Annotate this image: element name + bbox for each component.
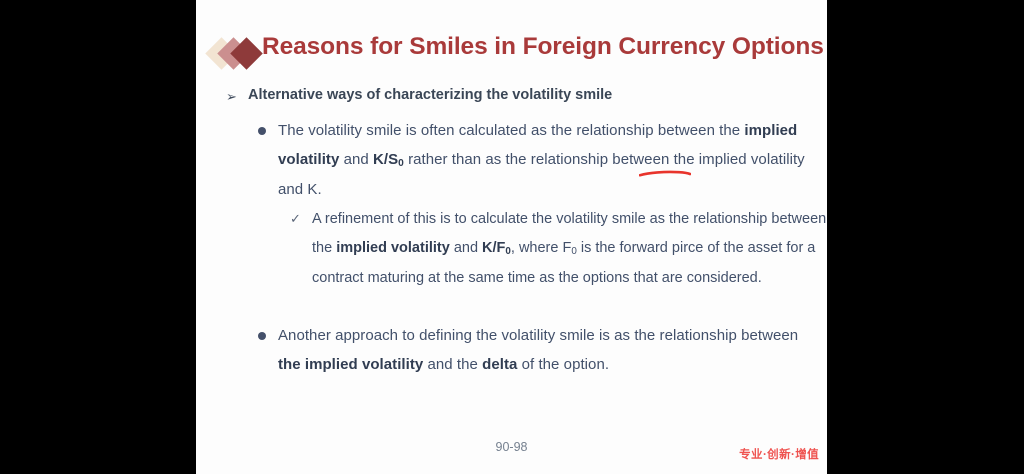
seg-bold-delta: delta	[482, 356, 517, 373]
bullet-item-1: The volatility smile is often calculated…	[254, 117, 824, 205]
page-number: 90-98	[196, 440, 827, 454]
seg-bold-k-over-s0: K/S0	[373, 151, 404, 168]
dot-bullet-icon-2	[254, 322, 278, 350]
video-slide-viewer: Reasons for Smiles in Foreign Currency O…	[0, 0, 1024, 474]
brand-slogan: 专业·创新·增值	[739, 446, 819, 462]
dot-bullet-icon	[254, 117, 278, 145]
sub-bullet-item: ✓ A refinement of this is to calculate t…	[290, 205, 830, 293]
seg-plain-8: and the	[423, 356, 482, 373]
page-title: Reasons for Smiles in Foreign Currency O…	[262, 33, 824, 61]
letterbox-left	[0, 0, 196, 474]
heading-text: Alternative ways of characterizing the v…	[248, 85, 612, 106]
slide-canvas: Reasons for Smiles in Foreign Currency O…	[196, 0, 827, 474]
seg-plain-1: The volatility smile is often calculated…	[278, 122, 744, 139]
seg-plain-5: and	[450, 240, 482, 256]
checkmark-icon: ✓	[290, 205, 312, 234]
seg-plain-2: and	[339, 151, 373, 168]
letterbox-right	[827, 0, 1024, 474]
heading-bullet-row: ➢ Alternative ways of characterizing the…	[226, 85, 816, 107]
bullet-text-1: The volatility smile is often calculated…	[278, 117, 824, 205]
seg-bold-the-implied-volatility: the implied volatility	[278, 356, 423, 373]
slide-header: Reasons for Smiles in Foreign Currency O…	[210, 33, 820, 77]
triple-diamond-logo-icon	[210, 37, 266, 71]
seg-plain-9: of the option.	[517, 356, 609, 373]
seg-plain-7: Another approach to defining the volatil…	[278, 327, 798, 344]
seg-bold-implied-volatility-2: implied volatility	[336, 240, 450, 256]
bullet-item-2: Another approach to defining the volatil…	[254, 322, 824, 379]
bullet-text-2: Another approach to defining the volatil…	[278, 322, 824, 379]
sub-bullet-text: A refinement of this is to calculate the…	[312, 205, 830, 293]
seg-bold-k-over-f0: K/F0	[482, 240, 511, 256]
arrow-bullet-icon: ➢	[226, 85, 248, 107]
